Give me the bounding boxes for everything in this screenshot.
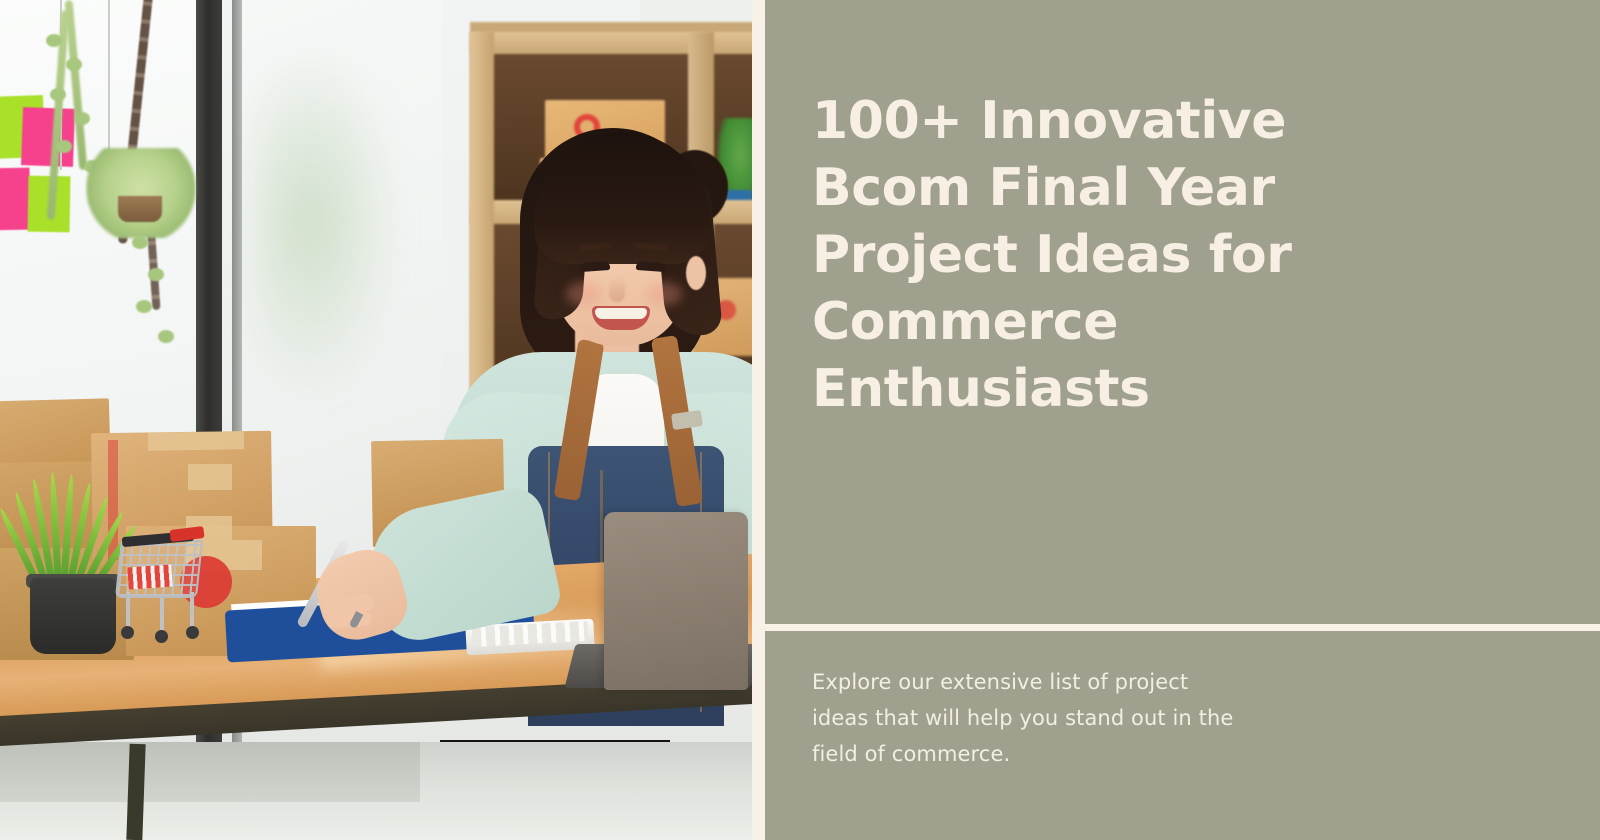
cart-contents <box>127 564 172 589</box>
horizontal-divider <box>765 624 1600 631</box>
nose <box>609 276 625 302</box>
vertical-divider <box>752 0 765 840</box>
smiling-mouth <box>592 306 650 330</box>
description-text: Explore our extensive list of project id… <box>812 664 1242 772</box>
laptop <box>604 512 748 690</box>
cart-wheel <box>121 626 134 639</box>
plant-pot <box>30 578 116 654</box>
ear <box>686 256 706 290</box>
cart-wheel <box>186 626 199 639</box>
cart-leg <box>160 596 164 632</box>
packing-tape <box>148 431 244 451</box>
floor-shadow <box>0 742 420 802</box>
photo-scene <box>0 0 752 840</box>
promo-banner: 100+ Innovative Bcom Final Year Project … <box>0 0 1600 840</box>
cheek-blush <box>646 282 682 306</box>
finger <box>326 611 373 628</box>
cheek-blush <box>566 282 602 306</box>
hero-photo <box>0 0 752 840</box>
teeth <box>595 308 647 319</box>
cart-wheel <box>155 630 168 643</box>
table-leg <box>126 744 145 840</box>
packing-tape <box>188 464 232 490</box>
page-title: 100+ Innovative Bcom Final Year Project … <box>812 88 1332 423</box>
